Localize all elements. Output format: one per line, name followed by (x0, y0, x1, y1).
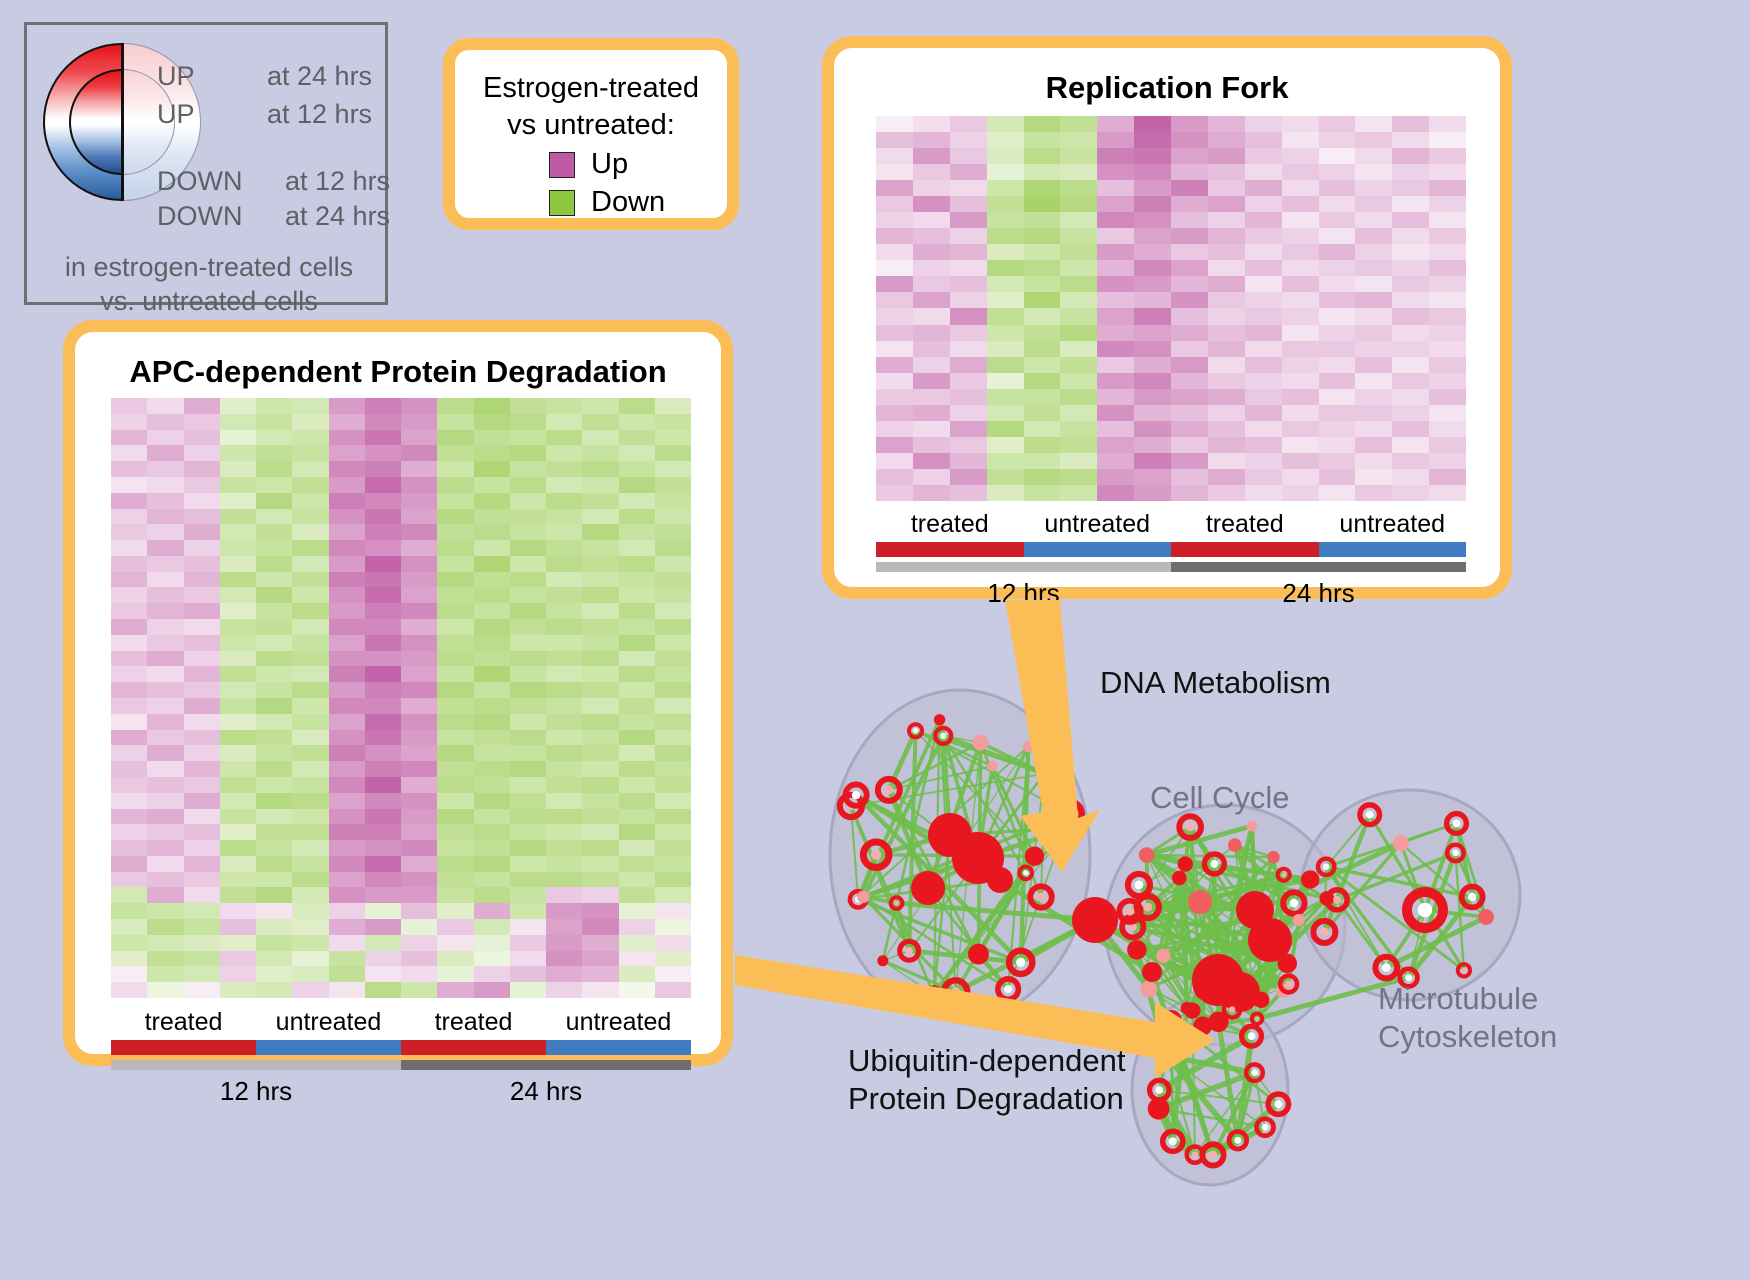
heatmap-cell (510, 824, 546, 840)
heatmap-cell (619, 887, 655, 903)
heatmap-cell (655, 872, 691, 888)
network-node-core (1168, 1017, 1174, 1023)
network-node (1267, 851, 1280, 864)
heatmap-cell (401, 540, 437, 556)
heatmap-cell (510, 745, 546, 761)
heatmap-cell (184, 966, 220, 982)
heatmap-cell (582, 430, 618, 446)
heatmap-cell (220, 982, 256, 998)
heatmap-cell (220, 477, 256, 493)
heatmap-cell (147, 793, 183, 809)
heatmap-cell (365, 666, 401, 682)
heatmap-cell (329, 445, 365, 461)
heatmap-cell (292, 698, 328, 714)
heatmap-cell (1024, 373, 1061, 389)
heatmap-cell (184, 587, 220, 603)
heatmap-cell (1171, 325, 1208, 341)
heatmap-cell (546, 398, 582, 414)
heatmap-cell (1282, 485, 1319, 501)
time-label: 12 hrs (111, 1076, 401, 1107)
heatmap-cell (1282, 164, 1319, 180)
heatmap-cell (437, 430, 473, 446)
heatmap-cell (365, 793, 401, 809)
heatmap-cell (401, 619, 437, 635)
heatmap-cell (876, 357, 913, 373)
heatmap-cell (1171, 437, 1208, 453)
heatmap-cell (401, 603, 437, 619)
heatmap-cell (147, 903, 183, 919)
heatmap-cell (619, 809, 655, 825)
heatmap-cell (1097, 228, 1134, 244)
heatmap-cell (1245, 164, 1282, 180)
heatmap-cell (546, 935, 582, 951)
heatmap-cell (111, 619, 147, 635)
network-node-core (1126, 907, 1134, 915)
heatmap-cell (1319, 389, 1356, 405)
heatmap-cell (437, 682, 473, 698)
heatmap-cell (546, 414, 582, 430)
heatmap-cell (147, 777, 183, 793)
heatmap-cell (1319, 341, 1356, 357)
heatmap-cell (1171, 148, 1208, 164)
heatmap-cell (220, 966, 256, 982)
heatmap-cell (876, 437, 913, 453)
heatmap-cell (292, 445, 328, 461)
network-node-core (1255, 1017, 1259, 1021)
heatmap-cell (111, 398, 147, 414)
heatmap-cell (365, 477, 401, 493)
heatmap-cell (546, 809, 582, 825)
heatmap-cell (184, 935, 220, 951)
heatmap-cell (401, 398, 437, 414)
heatmap-cell (876, 196, 913, 212)
wheel-footer-line-2: vs. untreated cells (27, 284, 391, 318)
heatmap-cell (546, 524, 582, 540)
heatmap-cell (619, 635, 655, 651)
heatmap-cell (256, 682, 292, 698)
heatmap-cell (582, 651, 618, 667)
heatmap-cell (1392, 485, 1429, 501)
heatmap-cell (546, 682, 582, 698)
heatmap-cell (437, 619, 473, 635)
heatmap-cell (510, 509, 546, 525)
heatmap-cell (365, 603, 401, 619)
heatmap-cell (1429, 421, 1466, 437)
heatmap-cell (655, 745, 691, 761)
heatmap-cell (474, 445, 510, 461)
heatmap-cell (329, 477, 365, 493)
heatmap-cell (1024, 469, 1061, 485)
apc-treatment-bar (111, 1040, 691, 1055)
heatmap-cell (329, 951, 365, 967)
heatmap-cell (292, 935, 328, 951)
heatmap-cell (1319, 228, 1356, 244)
heatmap-cell (1171, 341, 1208, 357)
replication-fork-time-labels: 12 hrs24 hrs (876, 578, 1466, 609)
heatmap-cell (401, 745, 437, 761)
heatmap-cell (1429, 180, 1466, 196)
heatmap-cell (510, 714, 546, 730)
heatmap-cell (401, 951, 437, 967)
heatmap-cell (619, 477, 655, 493)
heatmap-cell (147, 414, 183, 430)
heatmap-cell (1245, 357, 1282, 373)
heatmap-cell (365, 982, 401, 998)
heatmap-cell (184, 603, 220, 619)
heatmap-cell (1060, 212, 1097, 228)
heatmap-cell (1208, 485, 1245, 501)
heatmap-cell (437, 840, 473, 856)
heatmap-cell (220, 556, 256, 572)
heatmap-cell (510, 524, 546, 540)
wheel-label-up-12: UP (157, 101, 195, 128)
heatmap-cell (1392, 228, 1429, 244)
network-node-core (852, 791, 861, 800)
heatmap-cell (1208, 148, 1245, 164)
heatmap-cell (401, 572, 437, 588)
ubiquitin-line-1: Ubiquitin-dependent (848, 1042, 1126, 1080)
wheel-footer-line-1: in estrogen-treated cells (27, 250, 391, 284)
heatmap-cell (437, 651, 473, 667)
heatmap-cell (111, 809, 147, 825)
heatmap-cell (147, 682, 183, 698)
heatmap-cell (582, 730, 618, 746)
heatmap-cell (1319, 132, 1356, 148)
heatmap-cell (510, 730, 546, 746)
heatmap-cell (1171, 469, 1208, 485)
heatmap-cell (474, 730, 510, 746)
group-label: treated (111, 1008, 256, 1037)
network-node (925, 985, 943, 1003)
heatmap-cell (1392, 373, 1429, 389)
network-node-core (905, 947, 913, 955)
heatmap-cell (401, 919, 437, 935)
heatmap-cell (184, 887, 220, 903)
treatment-bar-segment (546, 1040, 691, 1055)
heatmap-cell (401, 856, 437, 872)
heatmap-cell (474, 587, 510, 603)
heatmap-cell (474, 540, 510, 556)
heatmap-cell (111, 698, 147, 714)
heatmap-cell (582, 919, 618, 935)
heatmap-cell (1245, 341, 1282, 357)
heatmap-cell (1429, 325, 1466, 341)
heatmap-cell (1097, 485, 1134, 501)
heatmap-cell (1024, 357, 1061, 373)
heatmap-cell (220, 572, 256, 588)
heatmap-cell (913, 276, 950, 292)
heatmap-cell (510, 430, 546, 446)
heatmap-cell (184, 556, 220, 572)
heatmap-cell (913, 148, 950, 164)
heatmap-cell (220, 903, 256, 919)
heatmap-cell (1060, 292, 1097, 308)
heatmap-cell (329, 809, 365, 825)
heatmap-cell (1282, 228, 1319, 244)
heatmap-cell (437, 635, 473, 651)
network-node-core (940, 733, 946, 739)
heatmap-cell (1134, 437, 1171, 453)
heatmap-cell (1429, 132, 1466, 148)
heatmap-cell (1097, 469, 1134, 485)
treatment-bar-segment (876, 542, 1024, 557)
heatmap-cell (1429, 389, 1466, 405)
heatmap-cell (184, 809, 220, 825)
heatmap-cell (1392, 148, 1429, 164)
heatmap-cell (582, 493, 618, 509)
heatmap-cell (913, 485, 950, 501)
heatmap-cell (147, 919, 183, 935)
heatmap-cell (184, 872, 220, 888)
heatmap-cell (365, 682, 401, 698)
heatmap-cell (111, 587, 147, 603)
heatmap-cell (329, 935, 365, 951)
heatmap-cell (1245, 389, 1282, 405)
heatmap-cell (147, 509, 183, 525)
heatmap-cell (1429, 357, 1466, 373)
heatmap-cell (1392, 260, 1429, 276)
heatmap-cell (582, 540, 618, 556)
heatmap-cell (111, 461, 147, 477)
heatmap-cell (184, 903, 220, 919)
heatmap-cell (510, 540, 546, 556)
network-node-core (871, 850, 881, 860)
heatmap-cell (655, 793, 691, 809)
heatmap-cell (876, 180, 913, 196)
heatmap-cell (1060, 308, 1097, 324)
heatmap-cell (184, 509, 220, 525)
heatmap-cell (1024, 180, 1061, 196)
heatmap-cell (1208, 405, 1245, 421)
heatmap-cell (365, 809, 401, 825)
heatmap-cell (292, 903, 328, 919)
heatmap-cell (365, 509, 401, 525)
heatmap-cell (1245, 260, 1282, 276)
heatmap-cell (147, 809, 183, 825)
heatmap-cell (1319, 292, 1356, 308)
heatmap-cell (619, 935, 655, 951)
heatmap-cell (292, 714, 328, 730)
heatmap-cell (220, 887, 256, 903)
heatmap-cell (1171, 373, 1208, 389)
heatmap-cell (365, 714, 401, 730)
heatmap-cell (1097, 164, 1134, 180)
network-node (1023, 741, 1035, 753)
heatmap-cell (147, 556, 183, 572)
heatmap-cell (619, 966, 655, 982)
heatmap-cell (546, 603, 582, 619)
heatmap-cell (950, 469, 987, 485)
heatmap-cell (111, 445, 147, 461)
heatmap-cell (1171, 180, 1208, 196)
network-node-core (1382, 963, 1391, 972)
heatmap-cell (292, 761, 328, 777)
heatmap-cell (582, 635, 618, 651)
heatmap-cell (111, 540, 147, 556)
heatmap-cell (147, 951, 183, 967)
heatmap-cell (1319, 116, 1356, 132)
heatmap-cell (1392, 276, 1429, 292)
heatmap-cell (329, 745, 365, 761)
heatmap-cell (147, 524, 183, 540)
heatmap-cell (510, 477, 546, 493)
heatmap-cell (510, 619, 546, 635)
heatmap-cell (1355, 244, 1392, 260)
heatmap-cell (1245, 148, 1282, 164)
heatmap-cell (474, 651, 510, 667)
heatmap-cell (256, 524, 292, 540)
wheel-time-up-24: at 24 hrs (267, 63, 372, 90)
heatmap-cell (655, 635, 691, 651)
network-node-core (913, 728, 918, 733)
heatmap-cell (292, 951, 328, 967)
heatmap-cell (437, 856, 473, 872)
heatmap-cell (582, 903, 618, 919)
network-node-core (1290, 899, 1299, 908)
heatmap-cell (329, 651, 365, 667)
network-node-core (1037, 893, 1046, 902)
heatmap-cell (365, 840, 401, 856)
heatmap-cell (292, 587, 328, 603)
heatmap-cell (292, 493, 328, 509)
heatmap-cell (1097, 196, 1134, 212)
heatmap-cell (184, 777, 220, 793)
legend-row-up: Up (549, 150, 628, 179)
heatmap-cell (876, 453, 913, 469)
network-node-core (884, 785, 893, 794)
heatmap-cell (582, 509, 618, 525)
heatmap-cell (1282, 292, 1319, 308)
network-node (1301, 870, 1319, 888)
heatmap-cell (876, 292, 913, 308)
heatmap-cell (220, 872, 256, 888)
apc-time-bar (111, 1060, 691, 1070)
heatmap-cell (1245, 437, 1282, 453)
heatmap-cell (1134, 341, 1171, 357)
heatmap-cell (950, 421, 987, 437)
heatmap-cell (1392, 180, 1429, 196)
heatmap-cell (582, 619, 618, 635)
heatmap-cell (913, 260, 950, 276)
heatmap-cell (619, 398, 655, 414)
heatmap-cell (147, 935, 183, 951)
heatmap-cell (437, 761, 473, 777)
heatmap-cell (582, 761, 618, 777)
heatmap-cell (256, 935, 292, 951)
heatmap-cell (1060, 389, 1097, 405)
heatmap-cell (582, 587, 618, 603)
heatmap-cell (365, 493, 401, 509)
heatmap-cell (474, 951, 510, 967)
heatmap-cell (329, 777, 365, 793)
apc-group-labels: treateduntreatedtreateduntreated (111, 1008, 691, 1037)
heatmap-cell (510, 635, 546, 651)
network-node (1246, 821, 1257, 832)
heatmap-cell (987, 325, 1024, 341)
heatmap-cell (1282, 180, 1319, 196)
heatmap-cell (111, 982, 147, 998)
heatmap-cell (184, 493, 220, 509)
heatmap-cell (256, 430, 292, 446)
heatmap-cell (1282, 308, 1319, 324)
heatmap-cell (474, 477, 510, 493)
heatmap-cell (111, 414, 147, 430)
heatmap-cell (365, 651, 401, 667)
heatmap-cell (1060, 341, 1097, 357)
microtubule-line-1: Microtubule (1378, 980, 1557, 1018)
heatmap-cell (1355, 196, 1392, 212)
heatmap-cell (220, 698, 256, 714)
heatmap-cell (1319, 437, 1356, 453)
heatmap-cell (111, 477, 147, 493)
heatmap-cell (184, 682, 220, 698)
heatmap-cell (619, 698, 655, 714)
heatmap-cell (329, 761, 365, 777)
heatmap-cell (329, 635, 365, 651)
time-bar-segment (111, 1060, 401, 1070)
heatmap-cell (582, 572, 618, 588)
heatmap-cell (329, 619, 365, 635)
heatmap-cell (147, 572, 183, 588)
heatmap-cell (1208, 421, 1245, 437)
heatmap-cell (619, 982, 655, 998)
heatmap-cell (474, 524, 510, 540)
heatmap-cell (184, 714, 220, 730)
updown-legend-title: Estrogen-treated vs untreated: (455, 70, 727, 144)
heatmap-cell (292, 477, 328, 493)
heatmap-cell (1355, 116, 1392, 132)
heatmap-cell (329, 461, 365, 477)
heatmap-cell (655, 856, 691, 872)
heatmap-cell (292, 777, 328, 793)
heatmap-cell (256, 761, 292, 777)
heatmap-cell (987, 389, 1024, 405)
heatmap-cell (292, 982, 328, 998)
heatmap-cell (1134, 116, 1171, 132)
heatmap-cell (1024, 132, 1061, 148)
heatmap-cell (655, 414, 691, 430)
heatmap-cell (1024, 164, 1061, 180)
heatmap-cell (510, 966, 546, 982)
heatmap-cell (913, 212, 950, 228)
heatmap-cell (256, 982, 292, 998)
heatmap-cell (876, 116, 913, 132)
heatmap-cell (1097, 212, 1134, 228)
heatmap-cell (1245, 405, 1282, 421)
heatmap-cell (1282, 437, 1319, 453)
heatmap-cell (256, 840, 292, 856)
treatment-bar-segment (111, 1040, 256, 1055)
heatmap-cell (1319, 244, 1356, 260)
heatmap-cell (510, 793, 546, 809)
heatmap-cell (184, 461, 220, 477)
heatmap-cell (474, 682, 510, 698)
heatmap-cell (913, 421, 950, 437)
heatmap-cell (184, 919, 220, 935)
heatmap-cell (220, 461, 256, 477)
heatmap-cell (437, 461, 473, 477)
heatmap-cell (582, 714, 618, 730)
heatmap-cell (1355, 421, 1392, 437)
heatmap-cell (619, 824, 655, 840)
heatmap-cell (876, 228, 913, 244)
heatmap-cell (1060, 469, 1097, 485)
heatmap-cell (655, 761, 691, 777)
heatmap-cell (655, 493, 691, 509)
heatmap-cell (1208, 244, 1245, 260)
heatmap-cell (582, 398, 618, 414)
heatmap-cell (474, 793, 510, 809)
